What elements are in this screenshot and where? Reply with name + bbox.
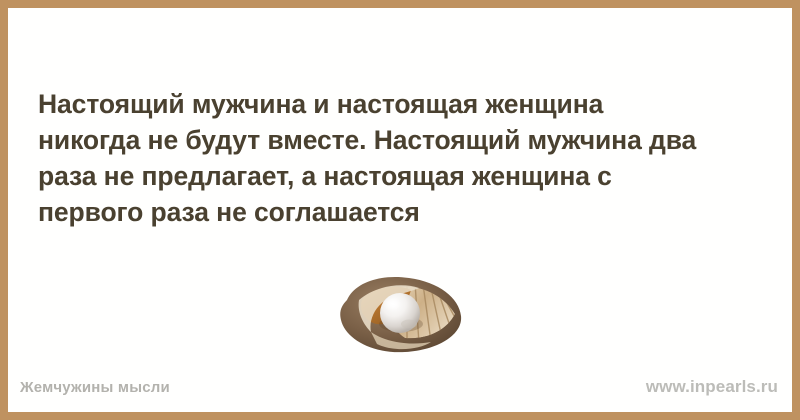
footer: Жемчужины мысли www.inpearls.ru	[8, 372, 792, 402]
footer-site-url[interactable]: www.inpearls.ru	[646, 377, 778, 397]
oyster-shell-with-pearl-icon	[335, 270, 465, 356]
quote-block: Настоящий мужчина и настоящая женщина ни…	[38, 86, 778, 230]
quote-text: Настоящий мужчина и настоящая женщина ни…	[38, 86, 778, 230]
footer-brand-label: Жемчужины мысли	[20, 379, 170, 396]
illustration-container	[8, 260, 792, 365]
quote-card: Настоящий мужчина и настоящая женщина ни…	[0, 0, 800, 420]
